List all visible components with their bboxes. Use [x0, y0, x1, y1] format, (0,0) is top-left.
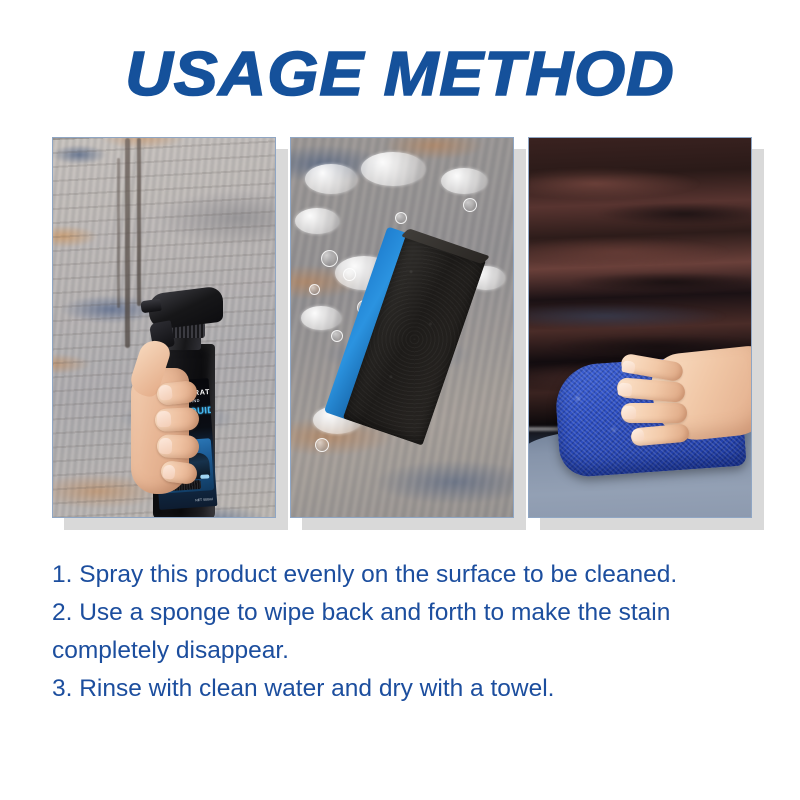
panel-sponge — [290, 137, 514, 518]
water-drip-icon — [137, 138, 141, 306]
foam-patch — [361, 152, 425, 186]
panel-frame: CONCENTRATED CAR WASH AND WAX LIQUID — [52, 137, 276, 518]
photo-towel-wipe — [529, 138, 751, 517]
instruction-steps: 1. Spray this product evenly on the surf… — [52, 556, 766, 708]
foam-patch — [301, 306, 341, 330]
step-item-1: 1. Spray this product evenly on the surf… — [52, 556, 766, 594]
image-panel-group: CONCENTRATED CAR WASH AND WAX LIQUID — [0, 0, 800, 560]
infographic-page: USAGE METHOD — [0, 0, 800, 800]
foam-patch — [295, 208, 339, 234]
photo-spray-bottle: CONCENTRATED CAR WASH AND WAX LIQUID — [53, 138, 275, 517]
step-item-3: 3. Rinse with clean water and dry with a… — [52, 670, 766, 708]
water-drip-icon — [125, 138, 130, 348]
fingernail — [617, 382, 632, 396]
fingernail — [621, 360, 636, 374]
foam-patch — [305, 164, 357, 194]
fingernail — [162, 464, 176, 479]
foam-patch — [441, 168, 487, 194]
water-drip-icon — [117, 158, 120, 308]
photo-sponge-foam — [291, 138, 513, 517]
panel-towel — [528, 137, 752, 518]
bubble — [321, 250, 338, 267]
fingernail — [159, 438, 173, 454]
fingernail — [157, 411, 172, 428]
bubble — [309, 284, 320, 295]
panel-frame — [290, 137, 514, 518]
fingernail — [622, 406, 636, 419]
panel-spray: CONCENTRATED CAR WASH AND WAX LIQUID — [52, 137, 276, 518]
step-item-2: 2. Use a sponge to wipe back and forth t… — [52, 594, 766, 670]
hand-holding-bottle — [131, 334, 229, 517]
panel-frame — [528, 137, 752, 518]
bubble — [331, 330, 343, 342]
fingernail — [158, 384, 172, 400]
hand-wiping — [615, 344, 751, 456]
fingernail — [631, 428, 644, 441]
bubble — [343, 268, 356, 281]
bubble — [463, 198, 477, 212]
bubble — [315, 438, 329, 452]
bubble — [395, 212, 407, 224]
